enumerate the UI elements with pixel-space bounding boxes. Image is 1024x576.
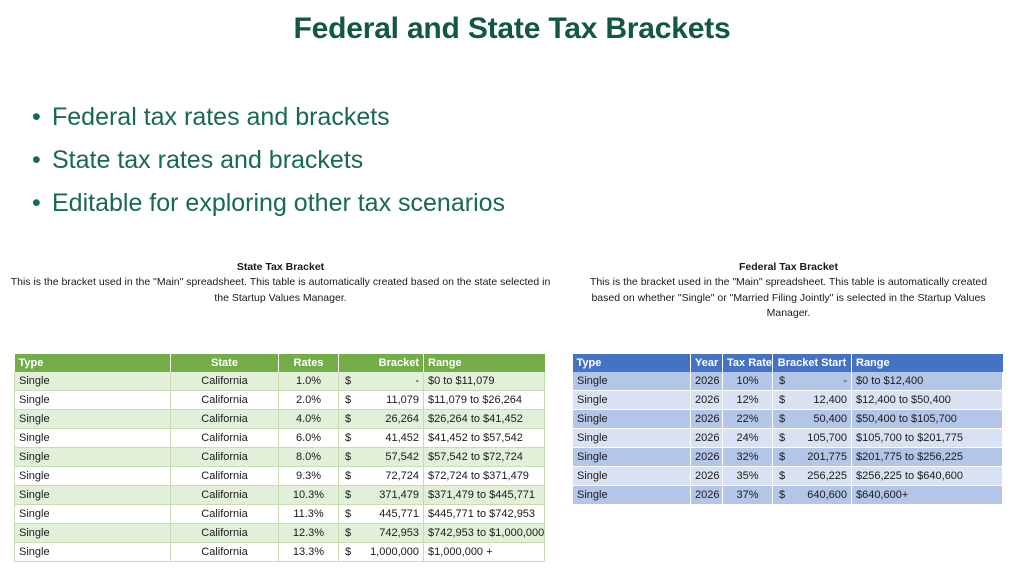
cell-type[interactable]: Single: [15, 372, 171, 391]
cell-tax-rate[interactable]: 35%: [723, 467, 773, 486]
table-row[interactable]: SingleCalifornia13.3%$1,000,000$1,000,00…: [15, 543, 545, 562]
currency-symbol: $: [345, 524, 351, 542]
cell-type[interactable]: Single: [573, 391, 691, 410]
cell-range[interactable]: $72,724 to $371,479: [424, 467, 545, 486]
cell-type[interactable]: Single: [573, 372, 691, 391]
cell-type[interactable]: Single: [15, 524, 171, 543]
cell-state[interactable]: California: [171, 429, 279, 448]
cell-range[interactable]: $41,452 to $57,542: [424, 429, 545, 448]
cell-year[interactable]: 2026: [691, 410, 723, 429]
cell-bracket-start[interactable]: $640,600: [773, 486, 852, 505]
list-item: •Editable for exploring other tax scenar…: [30, 182, 670, 225]
currency-symbol: $: [345, 486, 351, 504]
table-row[interactable]: Single202622%$50,400$50,400 to $105,700: [573, 410, 1003, 429]
cell-rate[interactable]: 9.3%: [279, 467, 339, 486]
cell-rate[interactable]: 2.0%: [279, 391, 339, 410]
cell-type[interactable]: Single: [15, 410, 171, 429]
cell-bracket[interactable]: $1,000,000: [339, 543, 424, 562]
amount-value: 26,264: [343, 410, 419, 428]
cell-range[interactable]: $445,771 to $742,953: [424, 505, 545, 524]
cell-state[interactable]: California: [171, 391, 279, 410]
currency-symbol: $: [345, 391, 351, 409]
cell-tax-rate[interactable]: 10%: [723, 372, 773, 391]
cell-state[interactable]: California: [171, 486, 279, 505]
cell-bracket[interactable]: $445,771: [339, 505, 424, 524]
cell-tax-rate[interactable]: 37%: [723, 486, 773, 505]
cell-state[interactable]: California: [171, 543, 279, 562]
state-tax-caption-title: State Tax Bracket: [8, 260, 553, 275]
amount-value: 371,479: [343, 486, 419, 504]
currency-symbol: $: [779, 467, 785, 485]
currency-symbol: $: [779, 391, 785, 409]
amount-value: 201,775: [777, 448, 847, 466]
list-item: •Federal tax rates and brackets: [30, 96, 670, 139]
bullet-dot-icon: •: [32, 182, 41, 225]
currency-symbol: $: [345, 505, 351, 523]
amount-value: 445,771: [343, 505, 419, 523]
currency-symbol: $: [779, 486, 785, 504]
table-row[interactable]: SingleCalifornia6.0%$41,452$41,452 to $5…: [15, 429, 545, 448]
currency-symbol: $: [345, 448, 351, 466]
cell-tax-rate[interactable]: 22%: [723, 410, 773, 429]
amount-value: 72,724: [343, 467, 419, 485]
federal-tax-caption: Federal Tax Bracket This is the bracket …: [576, 260, 1001, 322]
state-tax-caption: State Tax Bracket This is the bracket us…: [8, 260, 553, 306]
bullet-dot-icon: •: [32, 96, 41, 139]
currency-symbol: $: [779, 372, 785, 390]
table-row[interactable]: Single202624%$105,700$105,700 to $201,77…: [573, 429, 1003, 448]
amount-value: 41,452: [343, 429, 419, 447]
list-item-label: Editable for exploring other tax scenari…: [52, 189, 505, 217]
table-row[interactable]: Single202610%$-$0 to $12,400: [573, 372, 1003, 391]
cell-type[interactable]: Single: [573, 486, 691, 505]
cell-year[interactable]: 2026: [691, 372, 723, 391]
cell-tax-rate[interactable]: 12%: [723, 391, 773, 410]
cell-rate[interactable]: 12.3%: [279, 524, 339, 543]
cell-bracket-start[interactable]: $12,400: [773, 391, 852, 410]
column-header-range[interactable]: Range: [852, 354, 1003, 372]
cell-range[interactable]: $640,600+: [852, 486, 1003, 505]
cell-bracket-start[interactable]: $-: [773, 372, 852, 391]
cell-range[interactable]: $201,775 to $256,225: [852, 448, 1003, 467]
bullet-dot-icon: •: [32, 139, 41, 182]
cell-state[interactable]: California: [171, 467, 279, 486]
amount-value: 256,225: [777, 467, 847, 485]
amount-value: -: [777, 372, 847, 390]
cell-range[interactable]: $371,479 to $445,771: [424, 486, 545, 505]
currency-symbol: $: [345, 543, 351, 561]
table-row[interactable]: SingleCalifornia12.3%$742,953$742,953 to…: [15, 524, 545, 543]
table-row[interactable]: SingleCalifornia2.0%$11,079$11,079 to $2…: [15, 391, 545, 410]
cell-year[interactable]: 2026: [691, 467, 723, 486]
currency-symbol: $: [345, 429, 351, 447]
cell-state[interactable]: California: [171, 448, 279, 467]
cell-range[interactable]: $105,700 to $201,775: [852, 429, 1003, 448]
column-header-bracket-start[interactable]: Bracket Start: [773, 354, 852, 372]
cell-range[interactable]: $742,953 to $1,000,000: [424, 524, 545, 543]
table-row[interactable]: Single202612%$12,400$12,400 to $50,400: [573, 391, 1003, 410]
column-header-type[interactable]: Type: [573, 354, 691, 372]
list-item: •State tax rates and brackets: [30, 139, 670, 182]
amount-value: -: [343, 372, 419, 390]
table-row[interactable]: SingleCalifornia4.0%$26,264$26,264 to $4…: [15, 410, 545, 429]
cell-bracket-start[interactable]: $256,225: [773, 467, 852, 486]
amount-value: 640,600: [777, 486, 847, 504]
amount-value: 50,400: [777, 410, 847, 428]
amount-value: 11,079: [343, 391, 419, 409]
table-header-row: Type State Rates Bracket Range: [15, 354, 545, 372]
cell-rate[interactable]: 1.0%: [279, 372, 339, 391]
cell-state[interactable]: California: [171, 505, 279, 524]
table-header-row: Type Year Tax Rate Bracket Start Range: [573, 354, 1003, 372]
cell-range[interactable]: $0 to $11,079: [424, 372, 545, 391]
cell-bracket[interactable]: $11,079: [339, 391, 424, 410]
amount-value: 57,542: [343, 448, 419, 466]
amount-value: 1,000,000: [343, 543, 419, 561]
cell-type[interactable]: Single: [15, 391, 171, 410]
currency-symbol: $: [345, 410, 351, 428]
currency-symbol: $: [779, 410, 785, 428]
cell-state[interactable]: California: [171, 372, 279, 391]
cell-state[interactable]: California: [171, 524, 279, 543]
cell-range[interactable]: $57,542 to $72,724: [424, 448, 545, 467]
cell-range[interactable]: $0 to $12,400: [852, 372, 1003, 391]
list-item-label: Federal tax rates and brackets: [52, 103, 390, 131]
cell-bracket[interactable]: $72,724: [339, 467, 424, 486]
cell-type[interactable]: Single: [573, 410, 691, 429]
cell-bracket[interactable]: $26,264: [339, 410, 424, 429]
cell-bracket-start[interactable]: $105,700: [773, 429, 852, 448]
cell-year[interactable]: 2026: [691, 486, 723, 505]
cell-rate[interactable]: 6.0%: [279, 429, 339, 448]
cell-range[interactable]: $11,079 to $26,264: [424, 391, 545, 410]
cell-range[interactable]: $26,264 to $41,452: [424, 410, 545, 429]
amount-value: 105,700: [777, 429, 847, 447]
cell-rate[interactable]: 13.3%: [279, 543, 339, 562]
column-header-bracket[interactable]: Bracket: [339, 354, 424, 372]
state-tax-bracket-table[interactable]: Type State Rates Bracket Range SingleCal…: [14, 354, 545, 562]
state-table-body: SingleCalifornia1.0%$-$0 to $11,079Singl…: [15, 372, 545, 562]
federal-tax-bracket-table[interactable]: Type Year Tax Rate Bracket Start Range S…: [572, 354, 1003, 505]
cell-type[interactable]: Single: [573, 467, 691, 486]
cell-bracket-start[interactable]: $201,775: [773, 448, 852, 467]
cell-year[interactable]: 2026: [691, 391, 723, 410]
table-row[interactable]: SingleCalifornia10.3%$371,479$371,479 to…: [15, 486, 545, 505]
cell-bracket[interactable]: $742,953: [339, 524, 424, 543]
page-title: Federal and State Tax Brackets: [0, 12, 1024, 46]
cell-type[interactable]: Single: [573, 429, 691, 448]
list-item-label: State tax rates and brackets: [52, 146, 363, 174]
column-header-rates[interactable]: Rates: [279, 354, 339, 372]
cell-year[interactable]: 2026: [691, 429, 723, 448]
cell-bracket[interactable]: $-: [339, 372, 424, 391]
cell-range[interactable]: $256,225 to $640,600: [852, 467, 1003, 486]
cell-year[interactable]: 2026: [691, 448, 723, 467]
table-row[interactable]: SingleCalifornia11.3%$445,771$445,771 to…: [15, 505, 545, 524]
cell-bracket-start[interactable]: $50,400: [773, 410, 852, 429]
cell-range[interactable]: $50,400 to $105,700: [852, 410, 1003, 429]
cell-rate[interactable]: 10.3%: [279, 486, 339, 505]
cell-type[interactable]: Single: [15, 486, 171, 505]
currency-symbol: $: [345, 467, 351, 485]
cell-rate[interactable]: 8.0%: [279, 448, 339, 467]
federal-table-body: Single202610%$-$0 to $12,400Single202612…: [573, 372, 1003, 505]
column-header-tax-rate[interactable]: Tax Rate: [723, 354, 773, 372]
currency-symbol: $: [779, 448, 785, 466]
state-tax-caption-body: This is the bracket used in the "Main" s…: [8, 275, 553, 306]
column-header-range[interactable]: Range: [424, 354, 545, 372]
cell-rate[interactable]: 4.0%: [279, 410, 339, 429]
cell-type[interactable]: Single: [15, 543, 171, 562]
table-row[interactable]: Single202635%$256,225$256,225 to $640,60…: [573, 467, 1003, 486]
table-row[interactable]: Single202632%$201,775$201,775 to $256,22…: [573, 448, 1003, 467]
cell-rate[interactable]: 11.3%: [279, 505, 339, 524]
amount-value: 12,400: [777, 391, 847, 409]
cell-type[interactable]: Single: [15, 467, 171, 486]
amount-value: 742,953: [343, 524, 419, 542]
cell-type[interactable]: Single: [15, 429, 171, 448]
cell-tax-rate[interactable]: 24%: [723, 429, 773, 448]
table-row[interactable]: SingleCalifornia9.3%$72,724$72,724 to $3…: [15, 467, 545, 486]
cell-type[interactable]: Single: [573, 448, 691, 467]
cell-bracket[interactable]: $41,452: [339, 429, 424, 448]
column-header-year[interactable]: Year: [691, 354, 723, 372]
currency-symbol: $: [779, 429, 785, 447]
cell-bracket[interactable]: $371,479: [339, 486, 424, 505]
federal-tax-caption-title: Federal Tax Bracket: [576, 260, 1001, 275]
cell-range[interactable]: $1,000,000 +: [424, 543, 545, 562]
cell-bracket[interactable]: $57,542: [339, 448, 424, 467]
currency-symbol: $: [345, 372, 351, 390]
column-header-state[interactable]: State: [171, 354, 279, 372]
cell-tax-rate[interactable]: 32%: [723, 448, 773, 467]
federal-tax-caption-body: This is the bracket used in the "Main" s…: [576, 275, 1001, 322]
cell-range[interactable]: $12,400 to $50,400: [852, 391, 1003, 410]
column-header-type[interactable]: Type: [15, 354, 171, 372]
table-row[interactable]: SingleCalifornia1.0%$-$0 to $11,079: [15, 372, 545, 391]
cell-type[interactable]: Single: [15, 448, 171, 467]
cell-type[interactable]: Single: [15, 505, 171, 524]
bullet-list: •Federal tax rates and brackets•State ta…: [30, 96, 670, 225]
table-row[interactable]: SingleCalifornia8.0%$57,542$57,542 to $7…: [15, 448, 545, 467]
table-row[interactable]: Single202637%$640,600$640,600+: [573, 486, 1003, 505]
cell-state[interactable]: California: [171, 410, 279, 429]
